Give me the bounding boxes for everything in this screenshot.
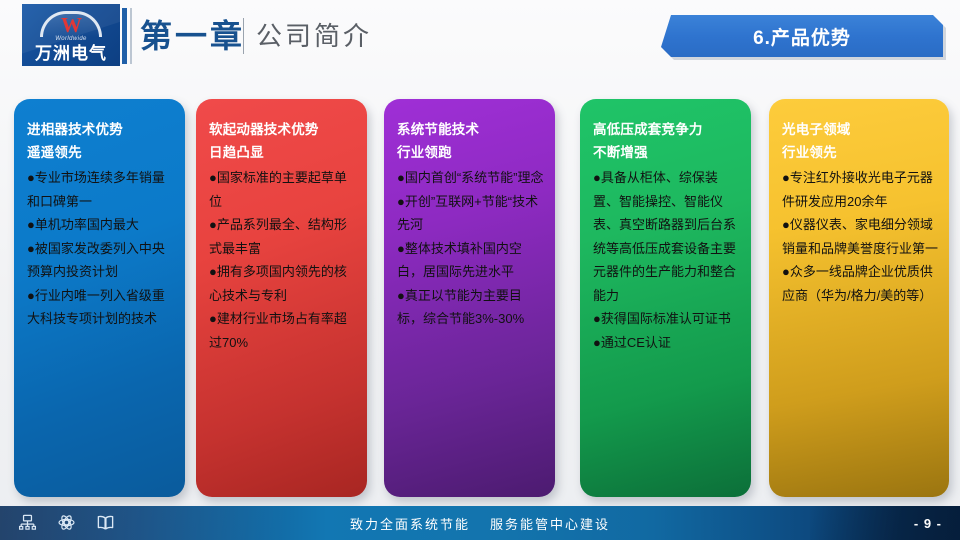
logo-letter: W xyxy=(40,13,102,37)
card-2-body: ●国家标准的主要起草单位 ●产品系列最全、结构形式最丰富 ●拥有多项国内领先的核… xyxy=(209,166,356,354)
slide-header: W Worldwide 万洲电气 第一章 公司简介 6.产品优势 xyxy=(0,0,960,78)
card-4-heading-line1: 高低压成套竞争力 xyxy=(593,122,703,137)
card-5-item-2: ●仪器仪表、家电细分领域销量和品牌美誉度行业第一 xyxy=(782,213,938,260)
card-3-item-1: ●国内首创“系统节能”理念 xyxy=(397,166,544,190)
section-title-banner: 6.产品优势 xyxy=(661,15,943,57)
advantage-card-1[interactable]: 进相器技术优势 遥遥领先 ●专业市场连续多年销量和口碑第一 ●单机功率国内最大 … xyxy=(14,99,185,497)
chapter-label: 第一章 xyxy=(140,14,245,58)
header-divider-blue xyxy=(122,8,127,64)
advantage-card-list: 进相器技术优势 遥遥领先 ●专业市场连续多年销量和口碑第一 ●单机功率国内最大 … xyxy=(0,99,960,499)
page-number: - 9 - xyxy=(914,506,942,540)
card-4-item-1: ●具备从柜体、综保装置、智能操控、智能仪表、真空断路器到后台系统等高低压成套设备… xyxy=(593,166,740,307)
advantage-card-3[interactable]: 系统节能技术 行业领跑 ●国内首创“系统节能”理念 ●开创”互联网+节能“技术先… xyxy=(384,99,555,497)
logo-english-text: Worldwide xyxy=(22,36,120,42)
card-2-heading-line2: 日趋凸显 xyxy=(209,141,356,164)
card-2-item-2: ●产品系列最全、结构形式最丰富 xyxy=(209,213,356,260)
logo-mark-icon: W xyxy=(40,11,102,37)
card-4-heading: 高低压成套竞争力 不断增强 xyxy=(593,118,740,164)
card-1-item-3: ●被国家发改委列入中央预算内投资计划 xyxy=(27,237,174,284)
logo-chinese-text: 万洲电气 xyxy=(22,43,120,64)
card-4-item-3: ●通过CE认证 xyxy=(593,331,740,355)
card-5-body: ●专注红外接收光电子元器件研发应用20余年 ●仪器仪表、家电细分领域销量和品牌美… xyxy=(782,166,938,307)
card-2-heading-line1: 软起动器技术优势 xyxy=(209,122,319,137)
card-3-body: ●国内首创“系统节能”理念 ●开创”互联网+节能“技术先河 ●整体技术填补国内空… xyxy=(397,166,544,331)
card-1-heading-line2: 遥遥领先 xyxy=(27,141,174,164)
advantage-card-5[interactable]: 光电子领域 行业领先 ●专注红外接收光电子元器件研发应用20余年 ●仪器仪表、家… xyxy=(769,99,949,497)
card-4-heading-line2: 不断增强 xyxy=(593,141,740,164)
header-divider-gray xyxy=(130,8,132,64)
slide-root: W Worldwide 万洲电气 第一章 公司简介 6.产品优势 进相器技术优势… xyxy=(0,0,960,540)
card-2-heading: 软起动器技术优势 日趋凸显 xyxy=(209,118,356,164)
card-2-item-3: ●拥有多项国内领先的核心技术与专利 xyxy=(209,260,356,307)
card-3-heading-line2: 行业领跑 xyxy=(397,141,544,164)
chapter-subtitle: 公司简介 xyxy=(256,17,372,55)
card-2-item-4: ●建材行业市场占有率超过70% xyxy=(209,307,356,354)
footer-slogan-right: 服务能管中心建设 xyxy=(490,514,610,533)
card-2-item-1: ●国家标准的主要起草单位 xyxy=(209,166,356,213)
advantage-card-2[interactable]: 软起动器技术优势 日趋凸显 ●国家标准的主要起草单位 ●产品系列最全、结构形式最… xyxy=(196,99,367,497)
card-3-heading-line1: 系统节能技术 xyxy=(397,122,479,137)
company-logo: W Worldwide 万洲电气 xyxy=(22,4,120,66)
card-1-body: ●专业市场连续多年销量和口碑第一 ●单机功率国内最大 ●被国家发改委列入中央预算… xyxy=(27,166,174,331)
card-4-item-2: ●获得国际标准认可证书 xyxy=(593,307,740,331)
advantage-card-4[interactable]: 高低压成套竞争力 不断增强 ●具备从柜体、综保装置、智能操控、智能仪表、真空断路… xyxy=(580,99,751,497)
card-5-heading-line1: 光电子领域 xyxy=(782,122,851,137)
card-5-item-3: ●众多一线品牌企业优质供应商（华为/格力/美的等） xyxy=(782,260,938,307)
card-3-item-3: ●整体技术填补国内空白，居国际先进水平 xyxy=(397,237,544,284)
card-5-item-1: ●专注红外接收光电子元器件研发应用20余年 xyxy=(782,166,938,213)
card-1-item-2: ●单机功率国内最大 xyxy=(27,213,174,237)
footer-slogan-left: 致力全面系统节能 xyxy=(350,514,470,533)
card-5-heading-line2: 行业领先 xyxy=(782,141,938,164)
section-title-pill: 6.产品优势 xyxy=(661,15,943,57)
card-3-item-2: ●开创”互联网+节能“技术先河 xyxy=(397,190,544,237)
card-4-body: ●具备从柜体、综保装置、智能操控、智能仪表、真空断路器到后台系统等高低压成套设备… xyxy=(593,166,740,354)
section-title-text: 6.产品优势 xyxy=(753,23,851,50)
card-1-heading: 进相器技术优势 遥遥领先 xyxy=(27,118,174,164)
card-3-heading: 系统节能技术 行业领跑 xyxy=(397,118,544,164)
chapter-separator xyxy=(243,18,244,54)
card-1-item-4: ●行业内唯一列入省级重大科技专项计划的技术 xyxy=(27,284,174,331)
card-5-heading: 光电子领域 行业领先 xyxy=(782,118,938,164)
card-1-item-1: ●专业市场连续多年销量和口碑第一 xyxy=(27,166,174,213)
card-1-heading-line1: 进相器技术优势 xyxy=(27,122,123,137)
slide-footer: 致力全面系统节能 服务能管中心建设 - 9 - xyxy=(0,506,960,540)
card-3-item-4: ●真正以节能为主要目标，综合节能3%-30% xyxy=(397,284,544,331)
